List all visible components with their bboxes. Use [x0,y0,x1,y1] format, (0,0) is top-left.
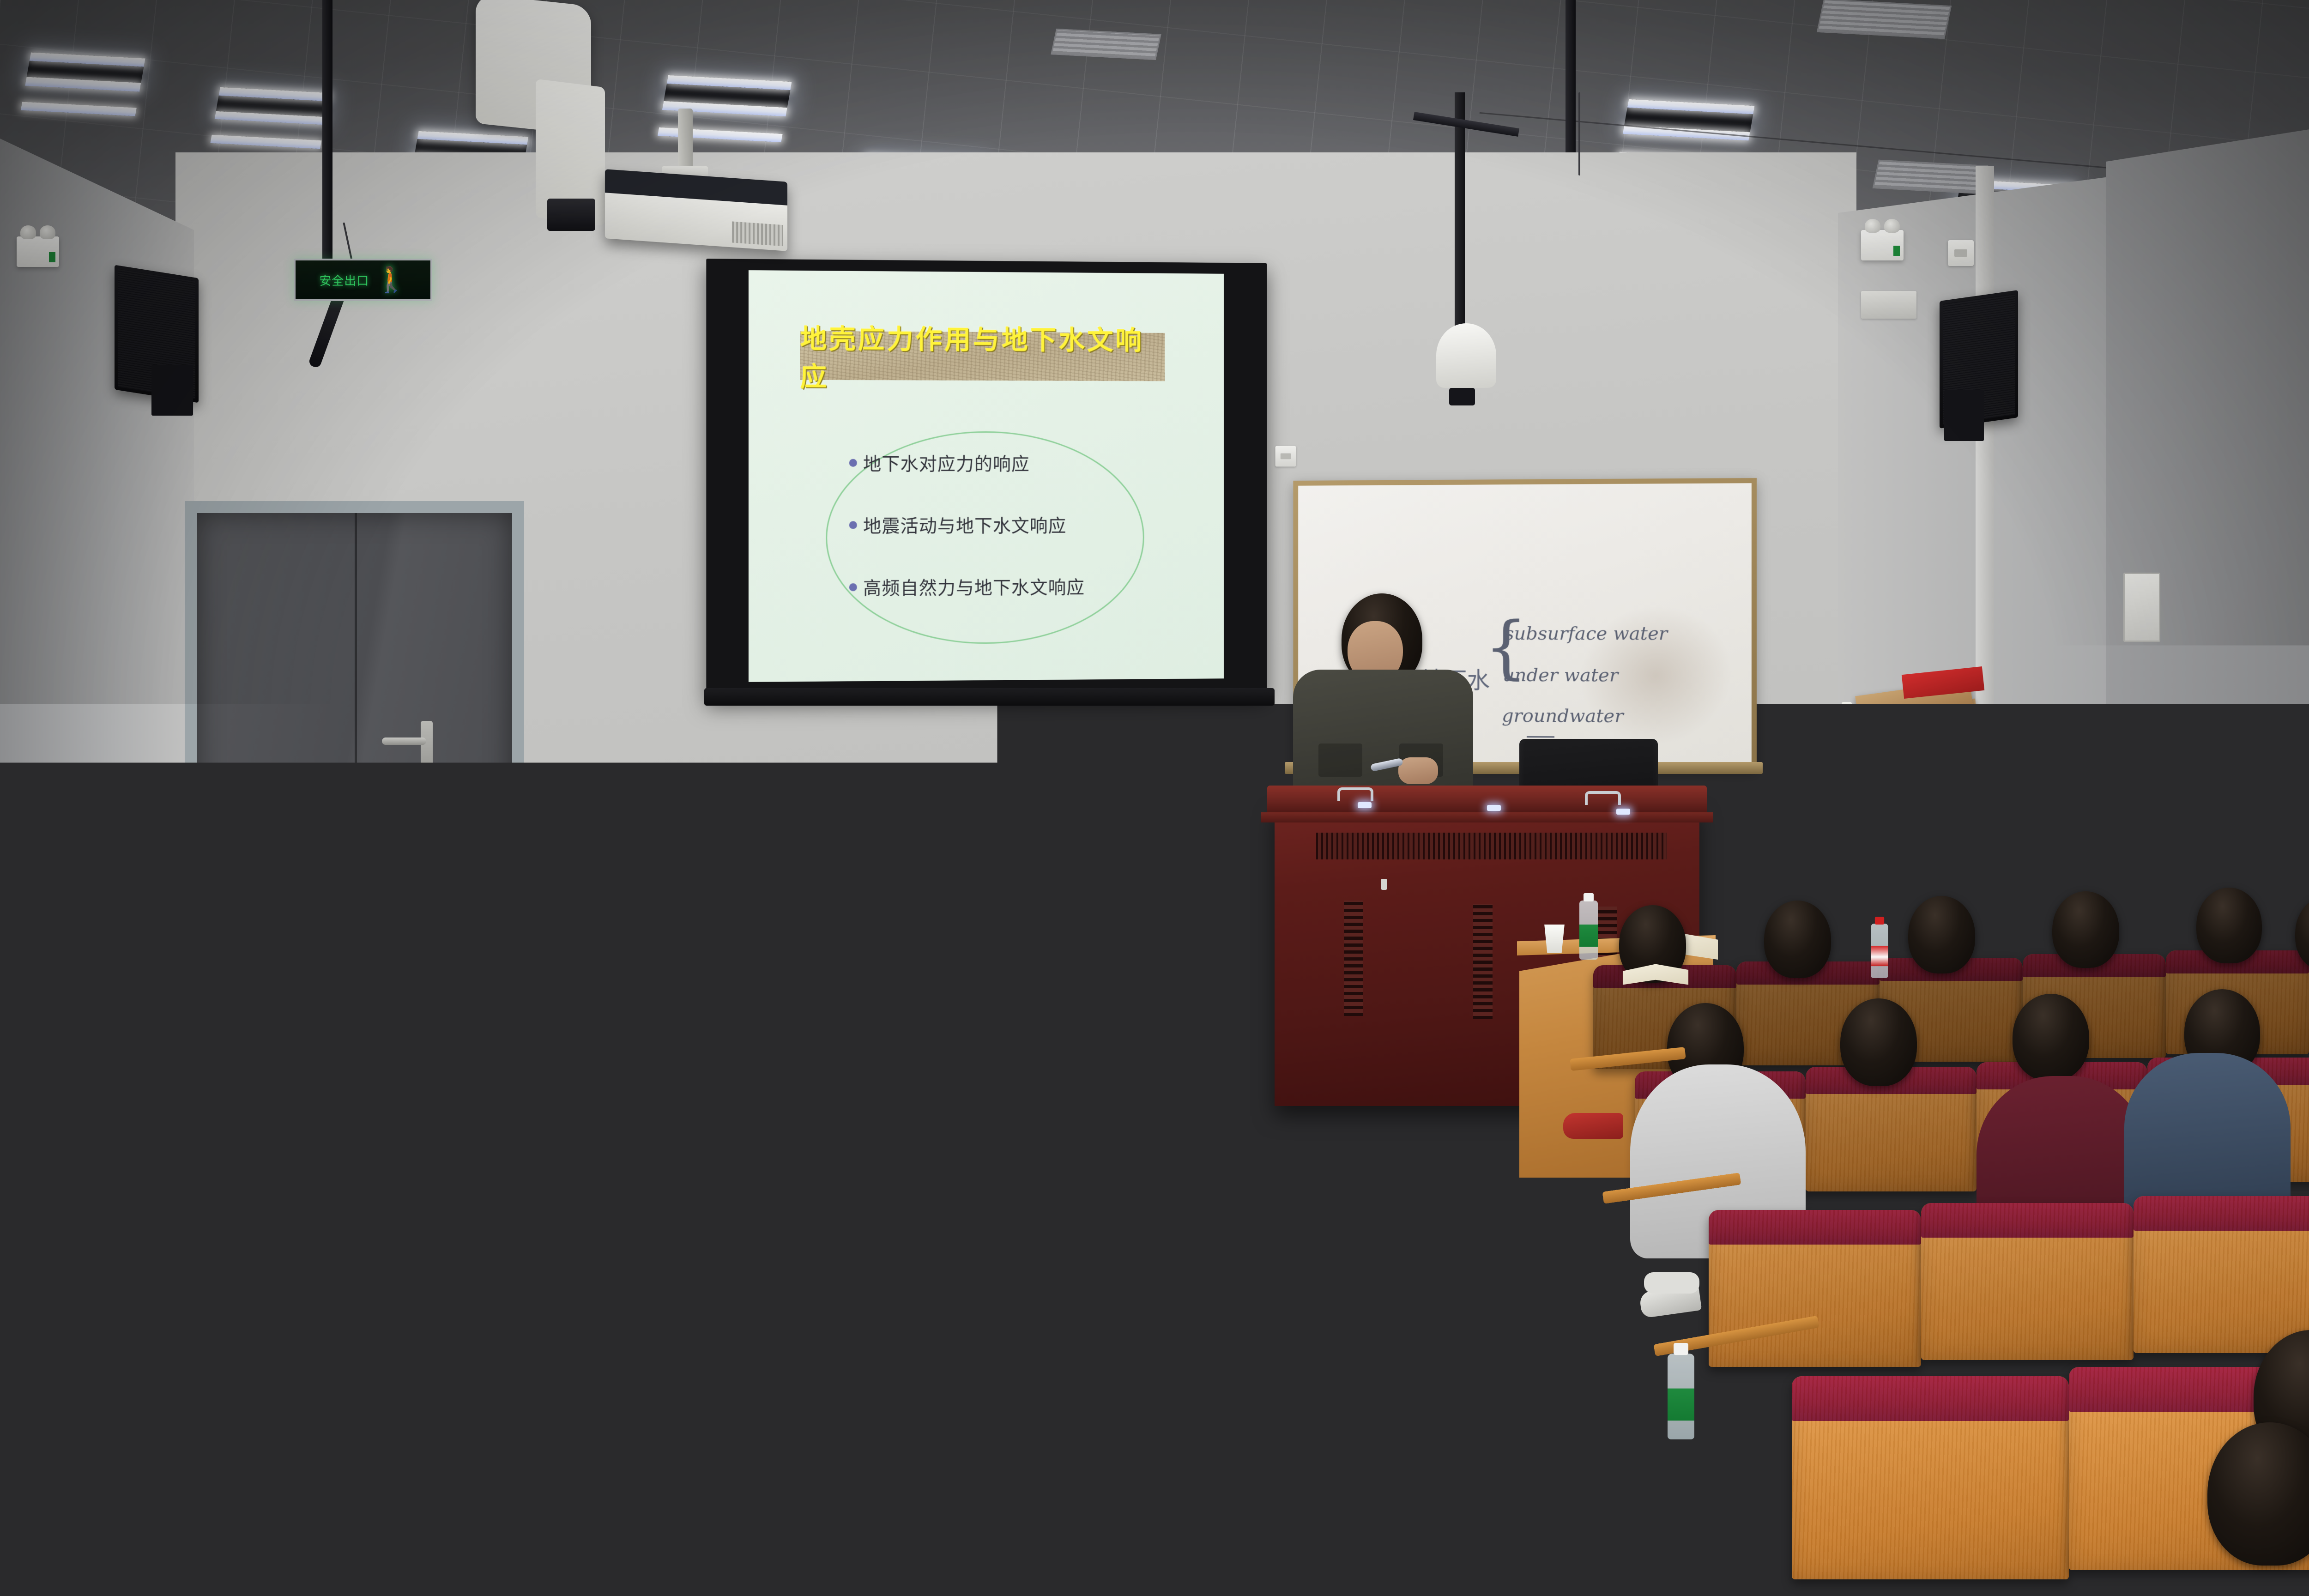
water-bottle[interactable] [1579,901,1598,960]
ceiling-projector [605,169,787,251]
bottle-cap-icon [197,862,207,870]
speaker-mount [1944,390,1984,441]
bottle-label [1871,946,1888,966]
water-bottle[interactable] [1230,1297,1255,1377]
water-bottle[interactable] [1668,1354,1694,1439]
water-bottle[interactable] [1723,867,1740,919]
sneaker [1563,1113,1623,1139]
student-head [935,828,992,892]
student-head [185,1023,269,1119]
student-head [434,949,506,1031]
camera-lens-icon [547,199,595,231]
instructor-hand [1398,757,1438,784]
student-head [770,1040,854,1135]
student-head [600,947,673,1030]
student-head [2013,994,2089,1081]
student-head [993,813,1045,873]
ceiling-light-fixture [215,87,330,123]
student-head [967,1046,1050,1140]
student-head [1030,886,1093,957]
student-head [891,880,955,953]
whiteboard-en-line: subsurface water [1505,623,1668,644]
microphone-pole [322,0,332,296]
water-bottle[interactable] [639,871,654,921]
bottle-label [1579,925,1598,947]
seat[interactable] [2134,1196,2309,1353]
water-bottle[interactable] [22,864,41,924]
ceiling-light-fixture [663,75,792,112]
ceiling-light-fixture [25,52,145,89]
lectern-lip [1261,812,1713,822]
student-head [558,837,613,901]
student-head [752,883,815,955]
slide-bullet-text: 高频自然力与地下水文响应 [863,573,1085,600]
bottle-cap-icon [1584,893,1594,901]
running-man-icon: 🚶 [375,267,406,292]
lectern-handle[interactable] [1585,791,1621,805]
radiator [0,831,125,901]
whiteboard-en-line: groundwater [1502,705,1623,727]
student-head [65,1118,175,1246]
lectern-top-vent [1316,833,1667,859]
emergency-exit-sign: 安全出口 🚶 [294,259,432,301]
bottle-label [1723,888,1740,907]
slide-title-banner: 地壳应力作用与地下水文响应 [800,331,1165,381]
rear-camera-lens-icon [1449,388,1475,405]
seat[interactable] [1806,1067,1977,1191]
student-head [2052,891,2119,968]
water-bottle[interactable] [193,869,212,928]
seat[interactable] [148,1104,342,1246]
lectern-door-lock[interactable] [1381,879,1387,890]
student-head [1840,998,1917,1086]
bottle-label [1668,1389,1694,1421]
slide-bullet-list: 地下水对应力的响应 地震活动与地下水文响应 高频自然力与地下水文响应 [849,450,1144,600]
wall-plate [1861,291,1916,319]
power-outlet[interactable] [1948,240,1974,266]
student-head [332,873,394,945]
microphone-pole [1566,0,1576,152]
lectern-led-indicator [1487,805,1501,811]
seat[interactable] [748,1257,993,1442]
student-torso-denim [2124,1053,2291,1219]
bullet-dot-icon [849,583,857,591]
student-head [1061,831,1118,896]
bottle-label [193,893,212,915]
student-head [568,1141,677,1266]
exit-sign-text: 安全出口 [319,272,369,289]
student-head [928,956,1000,1037]
wall-plate [2230,776,2252,804]
lecture-hall-photo: 地壳应力作用与地下水文响应 地下水对应力的响应 地震活动与地下水文响应 高频自然… [0,0,2309,1596]
student-head [1764,901,1831,978]
bottle-cap-icon [26,857,36,865]
bottle-label [22,889,41,911]
bullet-dot-icon [849,459,857,466]
emergency-light [1861,230,1904,260]
student-head [379,1029,463,1125]
student-head [764,952,836,1034]
emergency-light [17,236,59,267]
radiator-valve[interactable] [84,827,105,837]
sock [1644,1272,1699,1294]
seat[interactable] [1792,1376,2069,1579]
emergency-lamp-icon [20,225,36,239]
lectern-led-indicator [1616,809,1630,815]
power-outlet[interactable] [1275,446,1296,467]
lectern-led-indicator [1358,802,1372,808]
projector-vent [732,221,783,246]
cabinet-top-object [1935,734,2013,767]
hvac-vent [1817,0,1952,39]
door-lock-plate [421,721,433,790]
bottle-cap-icon [642,864,651,871]
slide-bullet-text: 地下水对应力的响应 [863,450,1030,476]
seat[interactable] [65,1418,397,1596]
student-torso [637,1469,896,1596]
slide-bullet-item: 地震活动与地下水文响应 [849,512,1144,538]
slide-bullet-text: 地震活动与地下水文响应 [863,512,1066,538]
student-head [305,1247,457,1423]
screen-bottom-bar [704,688,1275,706]
student-head [471,877,535,950]
bottle-label [639,891,654,910]
emergency-lamp-icon [1884,219,1900,233]
seat[interactable] [1709,1210,1921,1367]
student-head [575,1034,660,1130]
bottle-cap-icon [1235,1287,1249,1298]
seat[interactable] [1921,1203,2134,1360]
student-head [1091,960,1161,1040]
student-head [683,831,740,896]
student-head [277,946,349,1028]
microphone-cable [1578,92,1580,175]
slide-title-text: 地壳应力作用与地下水文响应 [800,317,1165,395]
student-head [1127,840,1181,902]
hvac-vent [1051,29,1161,60]
emergency-indicator [1893,246,1900,256]
projection-screen: 地壳应力作用与地下水文响应 地下水对应力的响应 地震活动与地下水文响应 高频自然… [706,259,1267,700]
student-head [813,1150,920,1274]
emergency-indicator [49,252,55,262]
lectern-side-vent [1473,904,1493,1019]
bottle-cap-icon [1674,1343,1688,1355]
student-head [2196,888,2262,963]
student-head [1908,896,1975,973]
glue-bottle [1842,702,1852,737]
lectern-handle[interactable] [1337,787,1373,801]
whiteboard-en-line: under water [1503,665,1618,686]
door-handle[interactable] [382,738,426,745]
student-head [753,813,804,872]
student-head [807,824,865,889]
rear-ptz-camera [1436,323,1496,388]
speaker-mount [151,365,193,416]
seat[interactable] [503,1250,748,1434]
bottle-cap-icon [1875,917,1884,925]
emergency-lamp-icon [40,225,55,239]
bottle-cap-icon [1727,861,1736,868]
aisle-step [1175,1427,1697,1433]
wall-control-panel[interactable] [2123,573,2160,642]
slide-bullet-item: 高频自然力与地下水文响应 [849,573,1144,600]
bullet-dot-icon [849,521,857,529]
hvac-vent [1873,160,1989,194]
slide-bullet-item: 地下水对应力的响应 [849,450,1144,476]
instructor-jacket-pocket [1318,744,1362,777]
slide-surface: 地壳应力作用与地下水文响应 地下水对应力的响应 地震活动与地下水文响应 高频自然… [749,270,1224,682]
lectern-side-vent [1344,901,1363,1016]
water-bottle[interactable] [1871,924,1888,978]
emergency-lamp-icon [1865,219,1880,233]
bottle-label [1230,1329,1255,1359]
aisle-step [1201,1298,1676,1304]
student-head [314,1127,425,1254]
whiteboard-underline [1527,736,1554,738]
